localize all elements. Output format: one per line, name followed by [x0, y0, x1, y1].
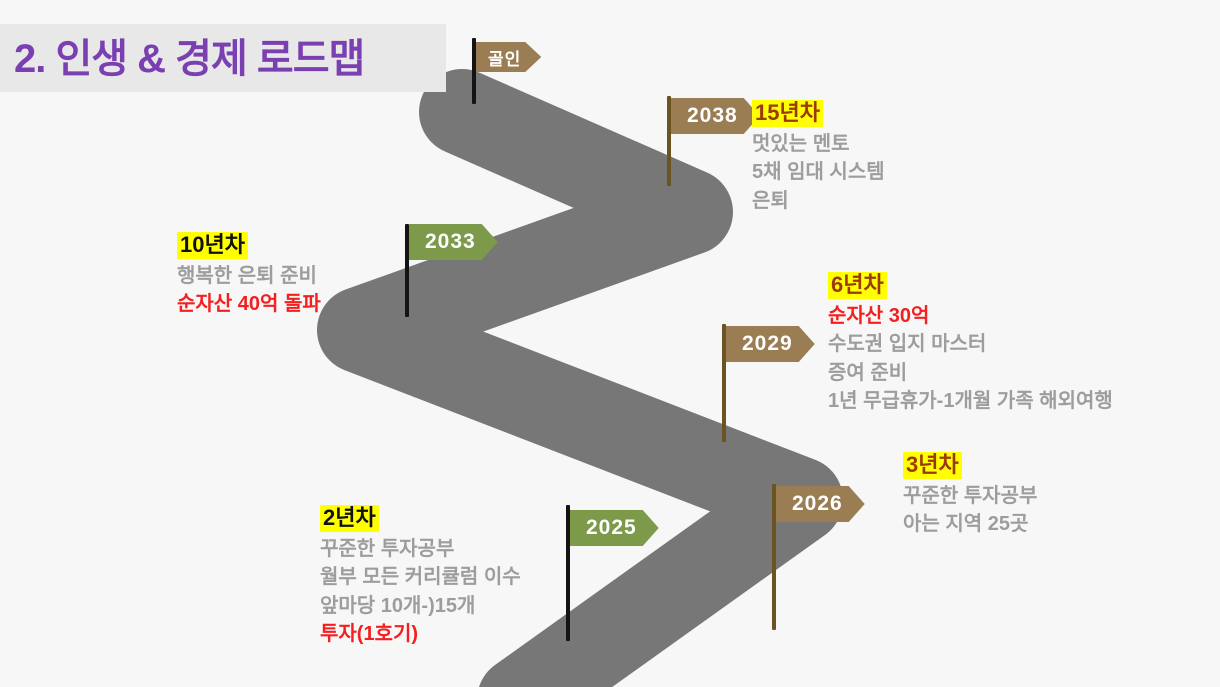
milestone-line: 월부 모든 커리큘럼 이수	[320, 563, 521, 591]
milestone-line: 증여 준비	[828, 359, 1113, 387]
milestone-line: 투자(1호기)	[320, 620, 521, 648]
milestone-year-label: 6년차	[828, 272, 887, 299]
milestone-year-label: 15년차	[752, 100, 823, 127]
milestone-line: 행복한 은퇴 준비	[177, 262, 321, 290]
milestone-line: 멋있는 멘토	[752, 130, 885, 158]
milestone-line: 1년 무급휴가-1개월 가족 해외여행	[828, 387, 1113, 415]
roadmap-slide: 골인 2038 2033 2029 2026 2025 2. 인생 & 경제 로…	[0, 0, 1220, 687]
milestone-line: 순자산 40억 돌파	[177, 290, 321, 318]
page-title: 2. 인생 & 경제 로드맵	[14, 28, 364, 90]
flag-label: 2026	[776, 486, 865, 522]
flag-pole	[772, 484, 776, 630]
milestone-line: 수도권 입지 마스터	[828, 330, 1113, 358]
flag-pole	[472, 38, 476, 104]
milestone-line: 앞마당 10개-)15개	[320, 592, 521, 620]
flag-pole	[566, 505, 570, 641]
flag-label: 2025	[570, 510, 659, 546]
milestone-line: 순자산 30억	[828, 302, 1113, 330]
flag-label: 2029	[726, 326, 815, 362]
milestone-line: 꾸준한 투자공부	[903, 482, 1037, 510]
milestone-10y: 10년차 행복한 은퇴 준비 순자산 40억 돌파	[177, 232, 321, 319]
milestone-line: 은퇴	[752, 187, 885, 215]
flag-label: 2033	[409, 224, 498, 260]
milestone-2y: 2년차 꾸준한 투자공부 월부 모든 커리큘럼 이수 앞마당 10개-)15개 …	[320, 505, 521, 648]
flag-pole	[405, 224, 409, 317]
flag-pole	[667, 96, 671, 186]
milestone-year-label: 3년차	[903, 452, 962, 479]
flag-label: 2038	[671, 98, 760, 134]
milestone-6y: 6년차 순자산 30억 수도권 입지 마스터 증여 준비 1년 무급휴가-1개월…	[828, 272, 1113, 415]
milestone-3y: 3년차 꾸준한 투자공부 아는 지역 25곳	[903, 452, 1037, 539]
milestone-15y: 15년차 멋있는 멘토 5채 임대 시스템 은퇴	[752, 100, 885, 215]
milestone-line: 5채 임대 시스템	[752, 158, 885, 186]
milestone-line: 아는 지역 25곳	[903, 510, 1037, 538]
milestone-year-label: 2년차	[320, 505, 379, 532]
flag-pole	[722, 324, 726, 442]
milestone-line: 꾸준한 투자공부	[320, 535, 521, 563]
milestone-year-label: 10년차	[177, 232, 248, 259]
